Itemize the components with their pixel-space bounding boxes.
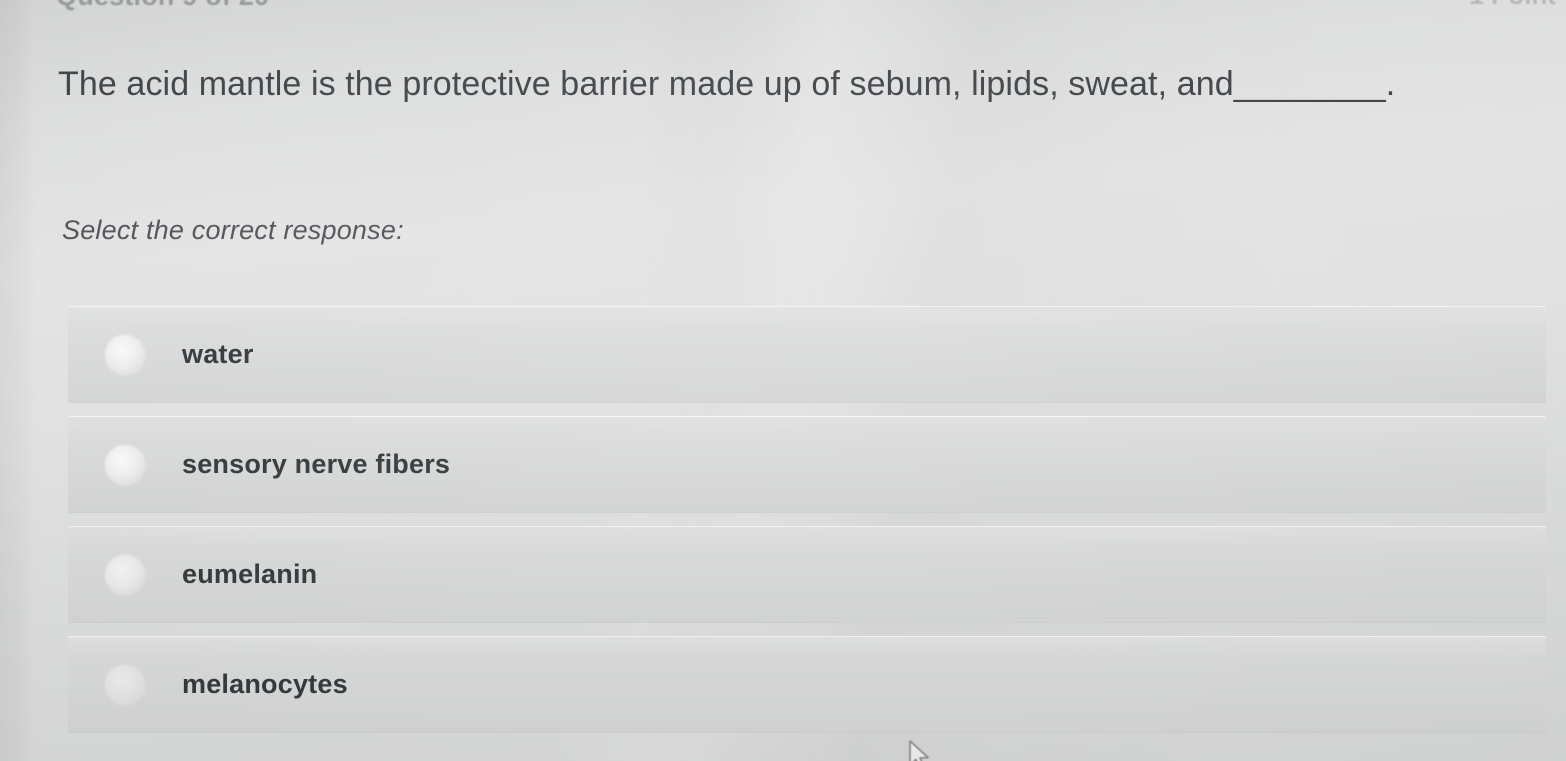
answer-option-label: sensory nerve fibers <box>182 449 450 480</box>
answer-option-melanocytes[interactable]: melanocytes <box>68 636 1546 733</box>
answer-option-label: water <box>182 339 254 370</box>
answer-options-list: water sensory nerve fibers eumelanin mel… <box>68 306 1546 746</box>
answer-option-eumelanin[interactable]: eumelanin <box>68 526 1546 623</box>
question-counter-cutoff: Question 9 of 20 <box>56 0 269 11</box>
radio-unchecked-icon[interactable] <box>105 665 145 705</box>
radio-unchecked-icon[interactable] <box>105 555 145 595</box>
points-label-cutoff: 1 Point <box>1469 0 1556 10</box>
answer-option-water[interactable]: water <box>68 306 1546 403</box>
radio-unchecked-icon[interactable] <box>105 445 145 485</box>
quiz-screen: Question 9 of 20 1 Point The acid mantle… <box>0 0 1566 761</box>
screen-left-shading <box>0 0 36 761</box>
radio-unchecked-icon[interactable] <box>105 335 145 375</box>
mouse-pointer-icon <box>908 740 934 761</box>
question-text: The acid mantle is the protective barrie… <box>58 60 1478 108</box>
answer-option-label: melanocytes <box>182 669 348 700</box>
answer-option-label: eumelanin <box>182 559 317 590</box>
select-response-prompt: Select the correct response: <box>62 215 404 246</box>
answer-option-sensory-nerve-fibers[interactable]: sensory nerve fibers <box>68 416 1546 513</box>
